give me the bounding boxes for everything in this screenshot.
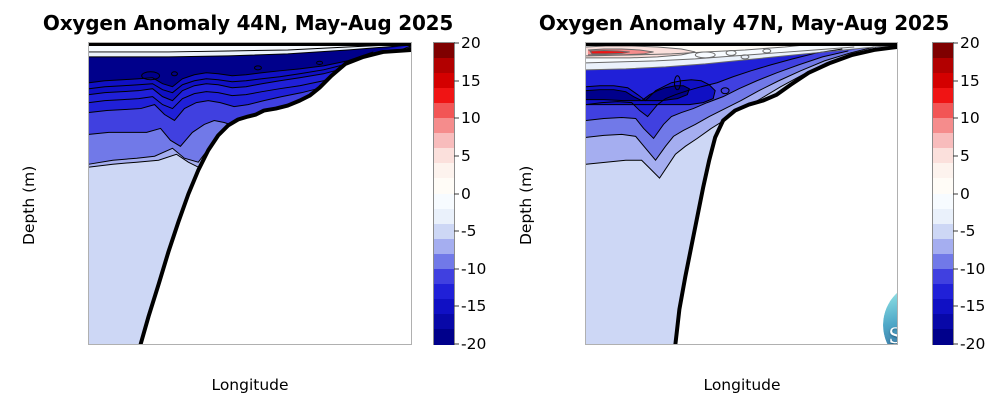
colorbar-segment	[933, 314, 953, 330]
panel-47n: Oxygen Anomaly 47N, May-Aug 2025	[500, 0, 1000, 417]
colorbar-segment	[434, 178, 454, 194]
colorbar-segment	[933, 73, 953, 89]
colorbar-segment	[933, 239, 953, 255]
contour-plot-47n	[586, 43, 897, 344]
plot-area-44n: 0 -200 -400 -600 -800 -1000 -125 -124.5 …	[88, 42, 412, 345]
contour-plot-44n	[89, 43, 411, 344]
colorbar-segment	[434, 194, 454, 210]
colorbar-tick-label: 20	[960, 34, 980, 52]
colorbar-tick-mark	[454, 193, 459, 194]
colorbar-segment	[933, 88, 953, 104]
colorbar-segment	[933, 329, 953, 345]
colorbar-segment	[933, 163, 953, 179]
colorbar-tick-label: 20	[461, 34, 481, 52]
colorbar-tick-mark	[454, 344, 459, 345]
panel-44n: Oxygen Anomaly 44N, May-Aug 2025	[0, 0, 500, 417]
colorbar-segment	[434, 314, 454, 330]
y-axis-label: Depth (m)	[517, 166, 535, 245]
colorbar-tick-label: 10	[461, 109, 481, 127]
colorbar-tick-mark	[953, 344, 958, 345]
contour-fills-47n	[586, 43, 897, 344]
colorbar-tick-label: -5	[960, 222, 975, 240]
colorbar-tick-label: -10	[960, 260, 985, 278]
colorbar-segment	[434, 254, 454, 270]
colorbar-tick-mark	[454, 155, 459, 156]
colorbar-tick-mark	[454, 231, 459, 232]
colorbar-tick-label: -20	[461, 335, 486, 353]
colorbar-tick-label: 10	[960, 109, 980, 127]
colorbar-segment	[434, 329, 454, 345]
colorbar-segment	[933, 43, 953, 59]
colorbar-segment	[933, 269, 953, 285]
colorbar-tick-mark	[454, 43, 459, 44]
contour-fills-44n	[89, 43, 411, 344]
colorbar-segment	[434, 239, 454, 255]
panel-title: Oxygen Anomaly 44N, May-Aug 2025	[0, 11, 498, 35]
colorbar-segment	[434, 224, 454, 240]
colorbar-tick-label: -20	[960, 335, 985, 353]
colorbar-tick-mark	[953, 306, 958, 307]
colorbar-segment	[933, 133, 953, 149]
colorbar-segment	[434, 299, 454, 315]
logo-label: J-SCOPE	[883, 300, 898, 345]
colorbar-segment	[434, 133, 454, 149]
colorbar-tick-label: -10	[461, 260, 486, 278]
colorbar-segment	[933, 118, 953, 134]
colorbar-tick-mark	[454, 80, 459, 81]
colorbar-tick-mark	[953, 80, 958, 81]
x-axis-label: Longitude	[211, 376, 288, 394]
colorbar-segment	[434, 148, 454, 164]
colorbar-47n: 20151050-5-10-15-20	[932, 42, 954, 345]
figure-root: Oxygen Anomaly 44N, May-Aug 2025	[0, 0, 1000, 417]
colorbar-segment	[933, 148, 953, 164]
colorbar-tick-mark	[953, 43, 958, 44]
colorbar-tick-mark	[454, 118, 459, 119]
colorbar-tick-label: 5	[960, 147, 970, 165]
colorbar-tick-label: 0	[960, 185, 970, 203]
plot-area-47n: 0 -200 -400 -600 -800 -1000 -125.5 -125 …	[585, 42, 898, 345]
panel-title: Oxygen Anomaly 47N, May-Aug 2025	[494, 11, 994, 35]
colorbar-tick-label: -15	[960, 297, 985, 315]
colorbar-tick-label: 15	[461, 72, 481, 90]
colorbar-tick-mark	[454, 306, 459, 307]
colorbar-44n: 20151050-5-10-15-20	[433, 42, 455, 345]
colorbar-tick-mark	[953, 155, 958, 156]
colorbar-segment	[434, 58, 454, 74]
colorbar-tick-label: -5	[461, 222, 476, 240]
colorbar-segment	[933, 103, 953, 119]
colorbar-segment	[933, 299, 953, 315]
colorbar-segment	[434, 284, 454, 300]
colorbar-tick-label: 0	[461, 185, 471, 203]
colorbar-segment	[933, 284, 953, 300]
colorbar-segment	[933, 209, 953, 225]
colorbar-tick-mark	[953, 193, 958, 194]
colorbar-tick-mark	[454, 268, 459, 269]
colorbar-tick-mark	[953, 268, 958, 269]
colorbar-segment	[933, 194, 953, 210]
colorbar-segment	[434, 88, 454, 104]
colorbar-segment	[434, 43, 454, 59]
colorbar-tick-label: -15	[461, 297, 486, 315]
colorbar-segment	[933, 224, 953, 240]
colorbar-segment	[933, 178, 953, 194]
colorbar-tick-mark	[953, 231, 958, 232]
x-axis-label: Longitude	[703, 376, 780, 394]
colorbar-tick-label: 15	[960, 72, 980, 90]
colorbar-segment	[434, 269, 454, 285]
colorbar-segment	[933, 254, 953, 270]
colorbar-segment	[434, 209, 454, 225]
colorbar-segment	[434, 118, 454, 134]
colorbar-segment	[434, 73, 454, 89]
colorbar-segment	[933, 58, 953, 74]
colorbar-tick-label: 5	[461, 147, 471, 165]
colorbar-segment	[434, 163, 454, 179]
y-axis-label: Depth (m)	[20, 166, 38, 245]
colorbar-segment	[434, 103, 454, 119]
colorbar-tick-mark	[953, 118, 958, 119]
